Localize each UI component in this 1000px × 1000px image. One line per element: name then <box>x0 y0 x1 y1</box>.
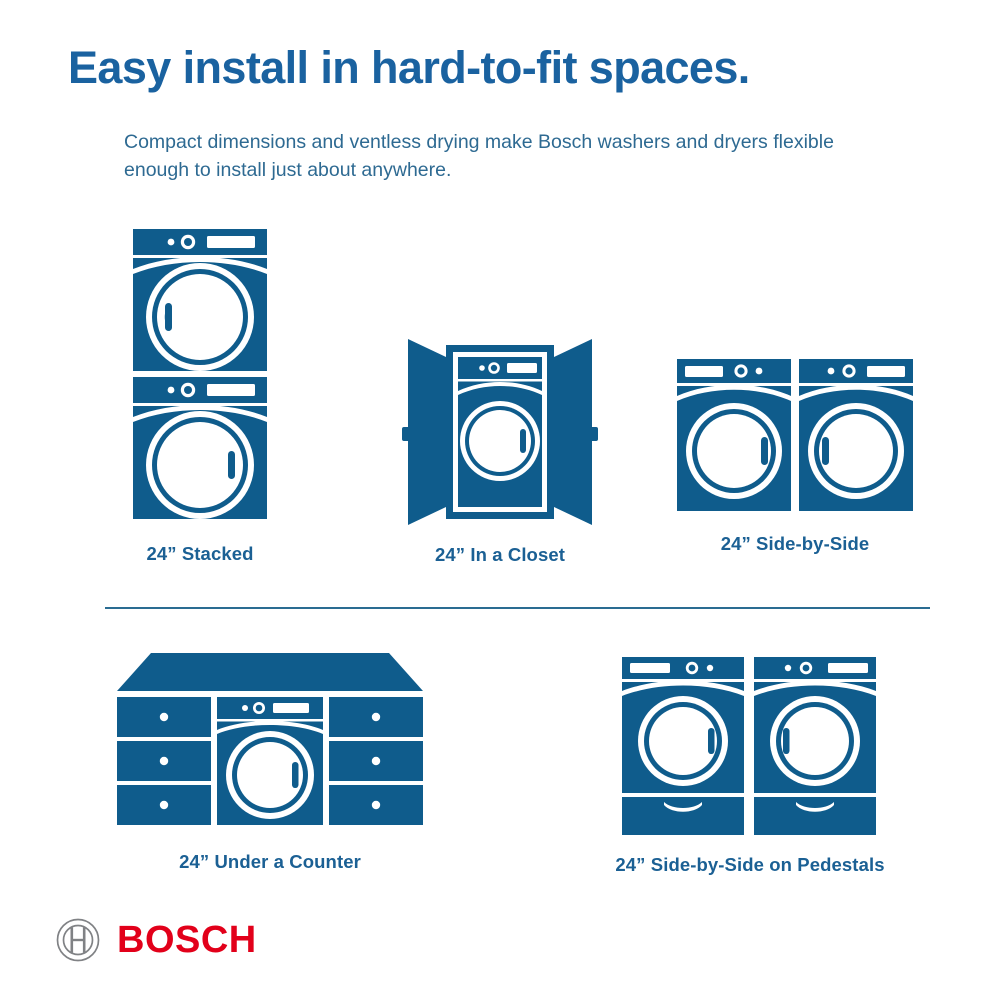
side-by-side-washer-dryer-icon <box>675 355 915 515</box>
card-stacked: 24” Stacked <box>60 225 340 565</box>
infographic-page: Easy install in hard-to-fit spaces. Comp… <box>0 0 1000 1000</box>
section-divider <box>105 607 930 609</box>
stacked-washer-dryer-icon <box>115 225 285 525</box>
bosch-wordmark: BOSCH <box>117 921 257 959</box>
side-by-side-on-pedestals-icon <box>620 653 880 838</box>
caption-side-by-side: 24” Side-by-Side <box>655 533 935 555</box>
caption-pedestals: 24” Side-by-Side on Pedestals <box>520 854 980 876</box>
brand-footer: BOSCH <box>55 910 257 970</box>
washer-under-counter-icon <box>115 645 425 835</box>
page-title: Easy install in hard-to-fit spaces. <box>68 44 750 91</box>
page-subtitle: Compact dimensions and ventless drying m… <box>124 128 904 185</box>
caption-stacked: 24” Stacked <box>60 543 340 565</box>
caption-closet: 24” In a Closet <box>360 544 640 566</box>
bosch-armature-icon <box>55 917 101 963</box>
caption-under-counter: 24” Under a Counter <box>60 851 480 873</box>
illustration-row-top: 24” Stacked <box>0 225 1000 575</box>
card-pedestals: 24” Side-by-Side on Pedestals <box>520 653 980 876</box>
card-side-by-side: 24” Side-by-Side <box>655 355 935 555</box>
washer-in-closet-icon <box>402 335 598 530</box>
card-under-counter: 24” Under a Counter <box>60 645 480 873</box>
card-closet: 24” In a Closet <box>360 335 640 566</box>
illustration-row-bottom: 24” Under a Counter <box>0 645 1000 895</box>
